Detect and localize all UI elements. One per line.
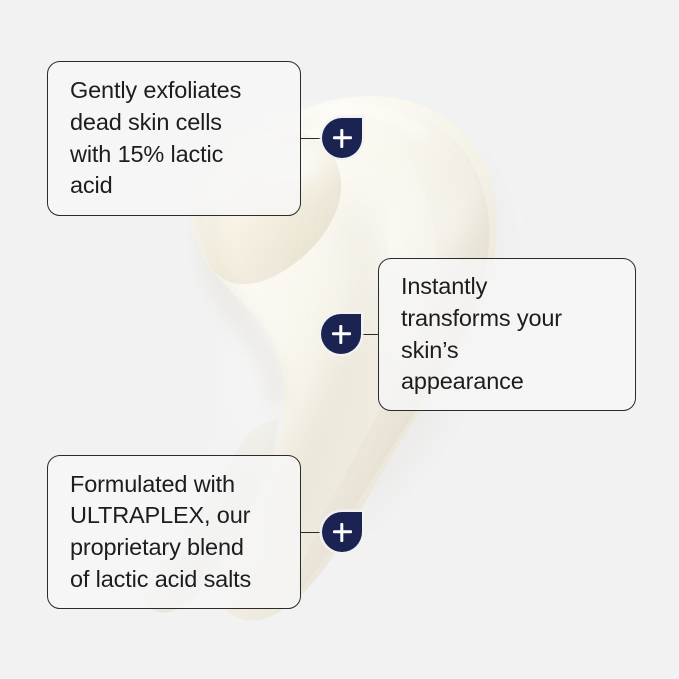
callout-card-1[interactable]: Gently exfoliates dead skin cells with 1… (47, 61, 301, 216)
plus-glyph (333, 523, 352, 542)
product-feature-callout-graphic: Gently exfoliates dead skin cells with 1… (0, 0, 679, 679)
callout-text-3: Formulated with ULTRAPLEX, our proprieta… (70, 469, 251, 595)
plus-glyph (332, 325, 351, 344)
callout-card-2[interactable]: Instantly transforms your skin’s appeara… (378, 258, 636, 411)
plus-icon-2[interactable] (321, 314, 361, 354)
callout-card-3[interactable]: Formulated with ULTRAPLEX, our proprieta… (47, 455, 301, 609)
callout-text-2: Instantly transforms your skin’s appeara… (401, 271, 562, 397)
plus-glyph (333, 129, 352, 148)
plus-icon-1[interactable] (322, 118, 362, 158)
connector-line-1 (300, 138, 323, 140)
plus-icon-3[interactable] (322, 512, 362, 552)
callout-text-1: Gently exfoliates dead skin cells with 1… (70, 75, 241, 201)
connector-line-3 (300, 532, 323, 534)
